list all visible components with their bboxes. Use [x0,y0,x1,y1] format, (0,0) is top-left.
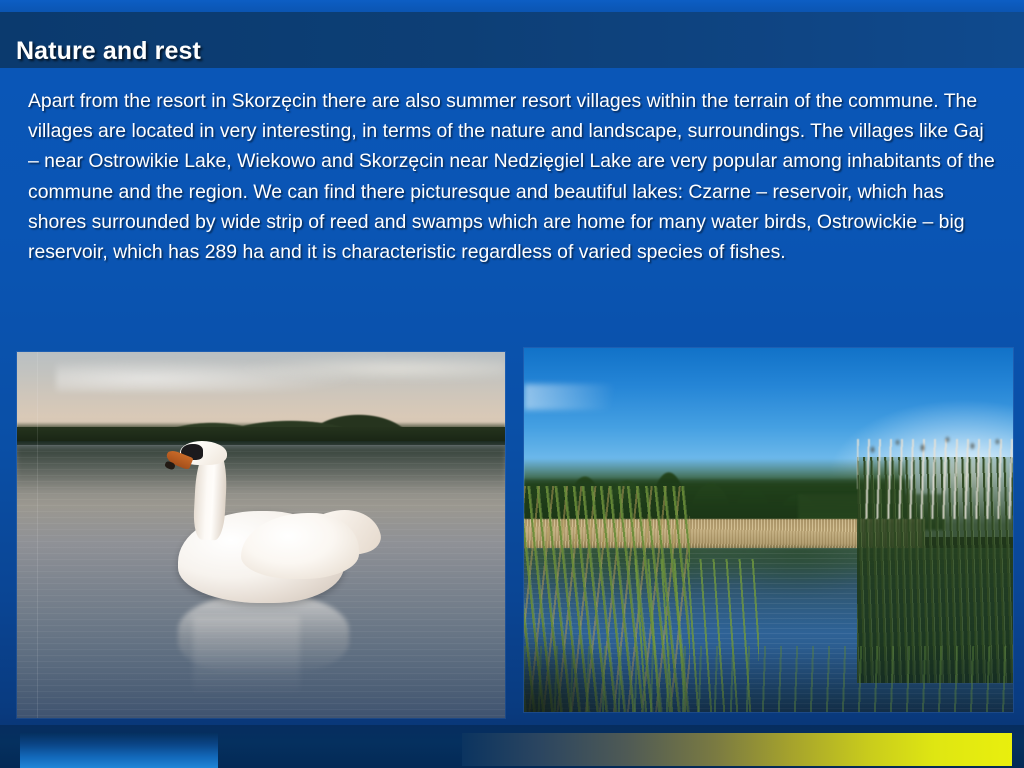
cloud-wisp-icon [524,384,651,409]
swan-on-lake-photo [17,352,505,718]
swan-scene [17,352,505,718]
page-title: Nature and rest [16,37,201,66]
photo-scan-line [37,352,38,718]
top-edge-strip [0,0,1024,12]
slide: Nature and rest Apart from the resort in… [0,0,1024,768]
reed-lake-scene [524,348,1013,712]
yellow-gradient-bar [462,733,1012,766]
blue-gradient-block [20,733,218,768]
bottom-bar [0,725,1024,768]
body-paragraph: Apart from the resort in Skorzęcin there… [28,86,996,267]
dark-corner-vignette [524,625,622,712]
reed-lake-photo [524,348,1013,712]
cloud-wisp-secondary-icon [237,356,505,382]
swan-reflection-tail [193,616,300,697]
title-band: Nature and rest [0,12,1024,68]
reed-plume-tops [857,428,1013,464]
